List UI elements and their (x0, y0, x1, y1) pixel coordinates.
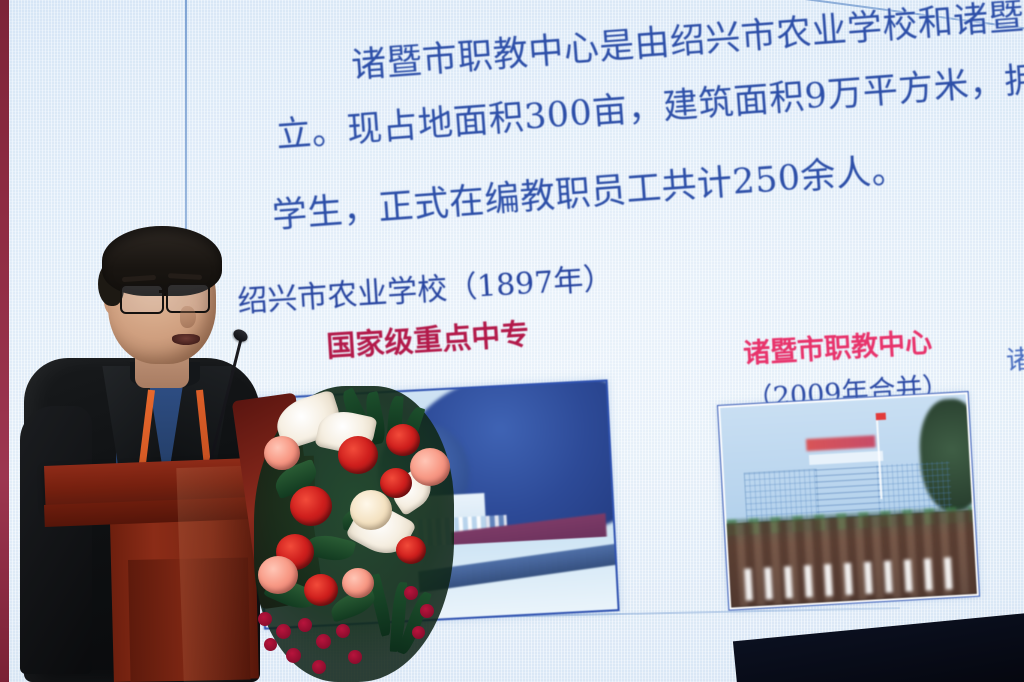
red-rose (338, 436, 378, 474)
speaker-mouth (172, 334, 200, 345)
pink-rose (264, 436, 300, 470)
filler-flower (298, 618, 312, 632)
presentation-scene: 诸暨市职教中心是由绍兴市农业学校和诸暨中专两 立。现占地面积300亩，建筑面积9… (0, 0, 1024, 682)
pink-rose (258, 556, 298, 594)
speaker-nose (180, 306, 196, 328)
slide-edge-clipped-caption: 诸 (1005, 339, 1024, 377)
flower-arrangement (246, 386, 466, 682)
eyeglasses-bridge-icon (159, 290, 168, 293)
filler-flower (404, 586, 418, 600)
slide-body-line-3: 学生，正式在编教职员工共计250余人。 (270, 141, 908, 238)
photo2-flag (876, 413, 886, 421)
cream-rose (350, 490, 392, 530)
filler-flower (312, 660, 326, 674)
red-rose (396, 536, 426, 564)
red-rose (380, 468, 412, 498)
filler-flower (420, 604, 434, 618)
speaker-left-arm (20, 406, 92, 674)
filler-flower (286, 648, 301, 663)
eyeglasses-lens-left-icon (120, 284, 164, 314)
filler-flower (348, 650, 362, 664)
filler-flower (316, 634, 331, 649)
red-rose (304, 574, 338, 606)
campus-building-photo (718, 392, 979, 610)
filler-flower (258, 612, 272, 626)
red-rose (386, 424, 420, 456)
pink-rose (410, 448, 450, 486)
filler-flower (276, 624, 291, 639)
red-rose (290, 486, 332, 526)
pink-rose (342, 568, 374, 598)
filler-flower (336, 624, 350, 638)
filler-flower (264, 638, 277, 651)
filler-flower (412, 626, 425, 639)
